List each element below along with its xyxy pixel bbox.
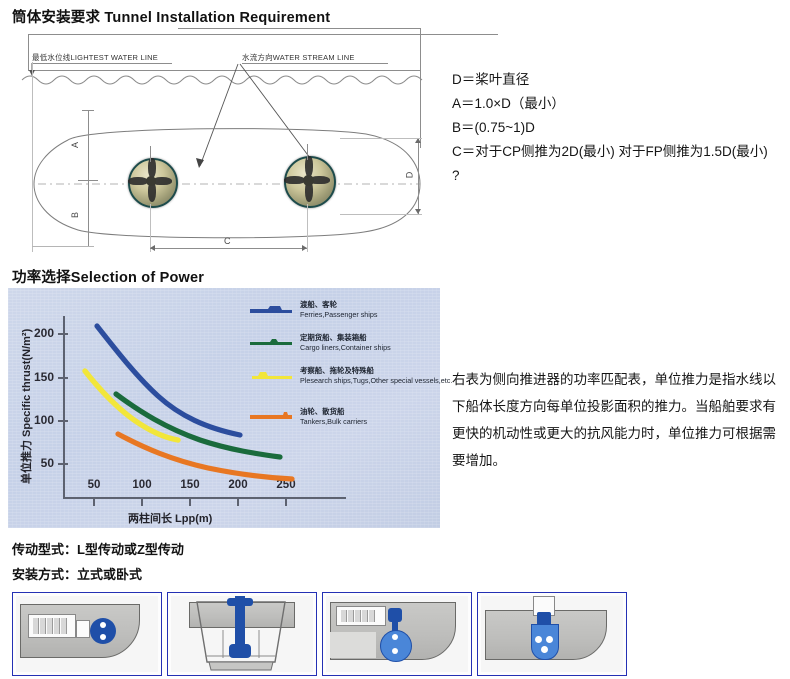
deck-line-upper — [28, 34, 498, 35]
hull-station-line — [32, 62, 33, 252]
dim-label-d: D — [404, 172, 414, 179]
thruster-gear-housing — [229, 644, 251, 658]
legend-label-research-cn: 考察船、拖轮及特殊船 — [300, 366, 452, 376]
tanker-ship-icon — [248, 409, 294, 422]
thumb-vertical-shaft-section[interactable] — [167, 592, 317, 676]
baseline — [32, 246, 94, 247]
spec-item-a: A＝1.0×D（最小） — [452, 92, 782, 116]
ferry-ship-icon — [248, 302, 294, 315]
page-title-tunnel: 筒体安装要求 Tunnel Installation Requirement — [12, 6, 330, 27]
propeller-port-centerline — [150, 146, 151, 162]
dim-label-a: A — [70, 142, 80, 148]
legend-item-cargo: 定期货船、集装箱船 Cargo liners,Container ships — [248, 333, 391, 352]
hull-inner-deck — [330, 632, 376, 658]
gearbox — [76, 620, 90, 638]
thumb-engine-driven-tunnel[interactable] — [322, 592, 472, 676]
propeller-port — [128, 158, 178, 208]
dim-tick-ab-mid — [78, 180, 98, 181]
dim-line-ab — [88, 110, 89, 246]
spec-item-c: C＝对于CP侧推为2D(最小) 对于FP侧推为1.5D(最小) — [452, 140, 782, 164]
legend-item-tankers: 油轮、散货船 Tankers,Bulk carriers — [248, 407, 367, 426]
engine-block — [336, 606, 386, 626]
dim-ext-d-bottom — [340, 214, 422, 215]
legend-label-tankers-en: Tankers,Bulk carriers — [300, 417, 367, 426]
dim-line-d — [418, 138, 419, 214]
propeller-starboard — [284, 156, 336, 208]
thumb-horizontal-l-drive[interactable] — [12, 592, 162, 676]
thumb-vertical-z-drive[interactable] — [477, 592, 627, 676]
dim-tick-a-top — [82, 110, 94, 111]
spec-item-extra: ? — [452, 164, 782, 188]
legend-label-cargo-cn: 定期货船、集装箱船 — [300, 333, 391, 343]
tunnel-spec-list: D＝桨叶直径 A＝1.0×D（最小） B＝(0.75~1)D C＝对于CP侧推为… — [452, 68, 782, 188]
dim-ext-d-top — [340, 138, 422, 139]
specific-thrust-chart: 200 150 100 50 单位推力 Specific thrust(N/m²… — [8, 288, 440, 528]
dim-ext-c-right — [307, 204, 308, 252]
drive-type-line: 传动型式：L型传动或Z型传动 — [12, 539, 184, 558]
legend-label-research-en: Plesearch ships,Tugs,Other special vesse… — [300, 376, 452, 385]
engine-block — [28, 614, 76, 638]
power-selection-note: 右表为侧向推进器的功率匹配表，单位推力是指水线以下船体长度方向每单位投影面积的推… — [452, 366, 782, 474]
spec-item-d: D＝桨叶直径 — [452, 68, 782, 92]
legend-label-ferries-en: Ferries,Passenger ships — [300, 310, 378, 319]
deck-line-top — [178, 28, 420, 29]
chart-curves — [8, 288, 440, 528]
mounting-type-line: 安装方式：立式或卧式 — [12, 564, 142, 583]
tunnel-installation-diagram: 最低水位线LIGHTEST WATER LINE 水流方向WATER STREA… — [10, 28, 442, 256]
legend-item-ferries: 渡船、客轮 Ferries,Passenger ships — [248, 300, 378, 319]
dim-line-c — [150, 248, 307, 249]
legend-label-ferries-cn: 渡船、客轮 — [300, 300, 378, 310]
research-ship-icon — [248, 368, 294, 382]
legend-item-research: 考察船、拖轮及特殊船 Plesearch ships,Tugs,Other sp… — [248, 366, 452, 385]
cargo-ship-icon — [248, 335, 294, 348]
hull-body-outline — [16, 124, 448, 256]
spec-item-b: B＝(0.75~1)D — [452, 116, 782, 140]
drive-motor — [227, 598, 253, 606]
legend-label-tankers-cn: 油轮、散货船 — [300, 407, 367, 417]
page-title-power: 功率选择Selection of Power — [12, 266, 204, 287]
legend-label-cargo-en: Cargo liners,Container ships — [300, 343, 391, 352]
dim-label-c: C — [224, 236, 231, 246]
dim-arrow-c-right — [302, 245, 307, 251]
dim-label-b: B — [70, 212, 80, 218]
propeller-stbd-centerline — [307, 144, 308, 160]
dim-arrow-c-left — [150, 245, 155, 251]
